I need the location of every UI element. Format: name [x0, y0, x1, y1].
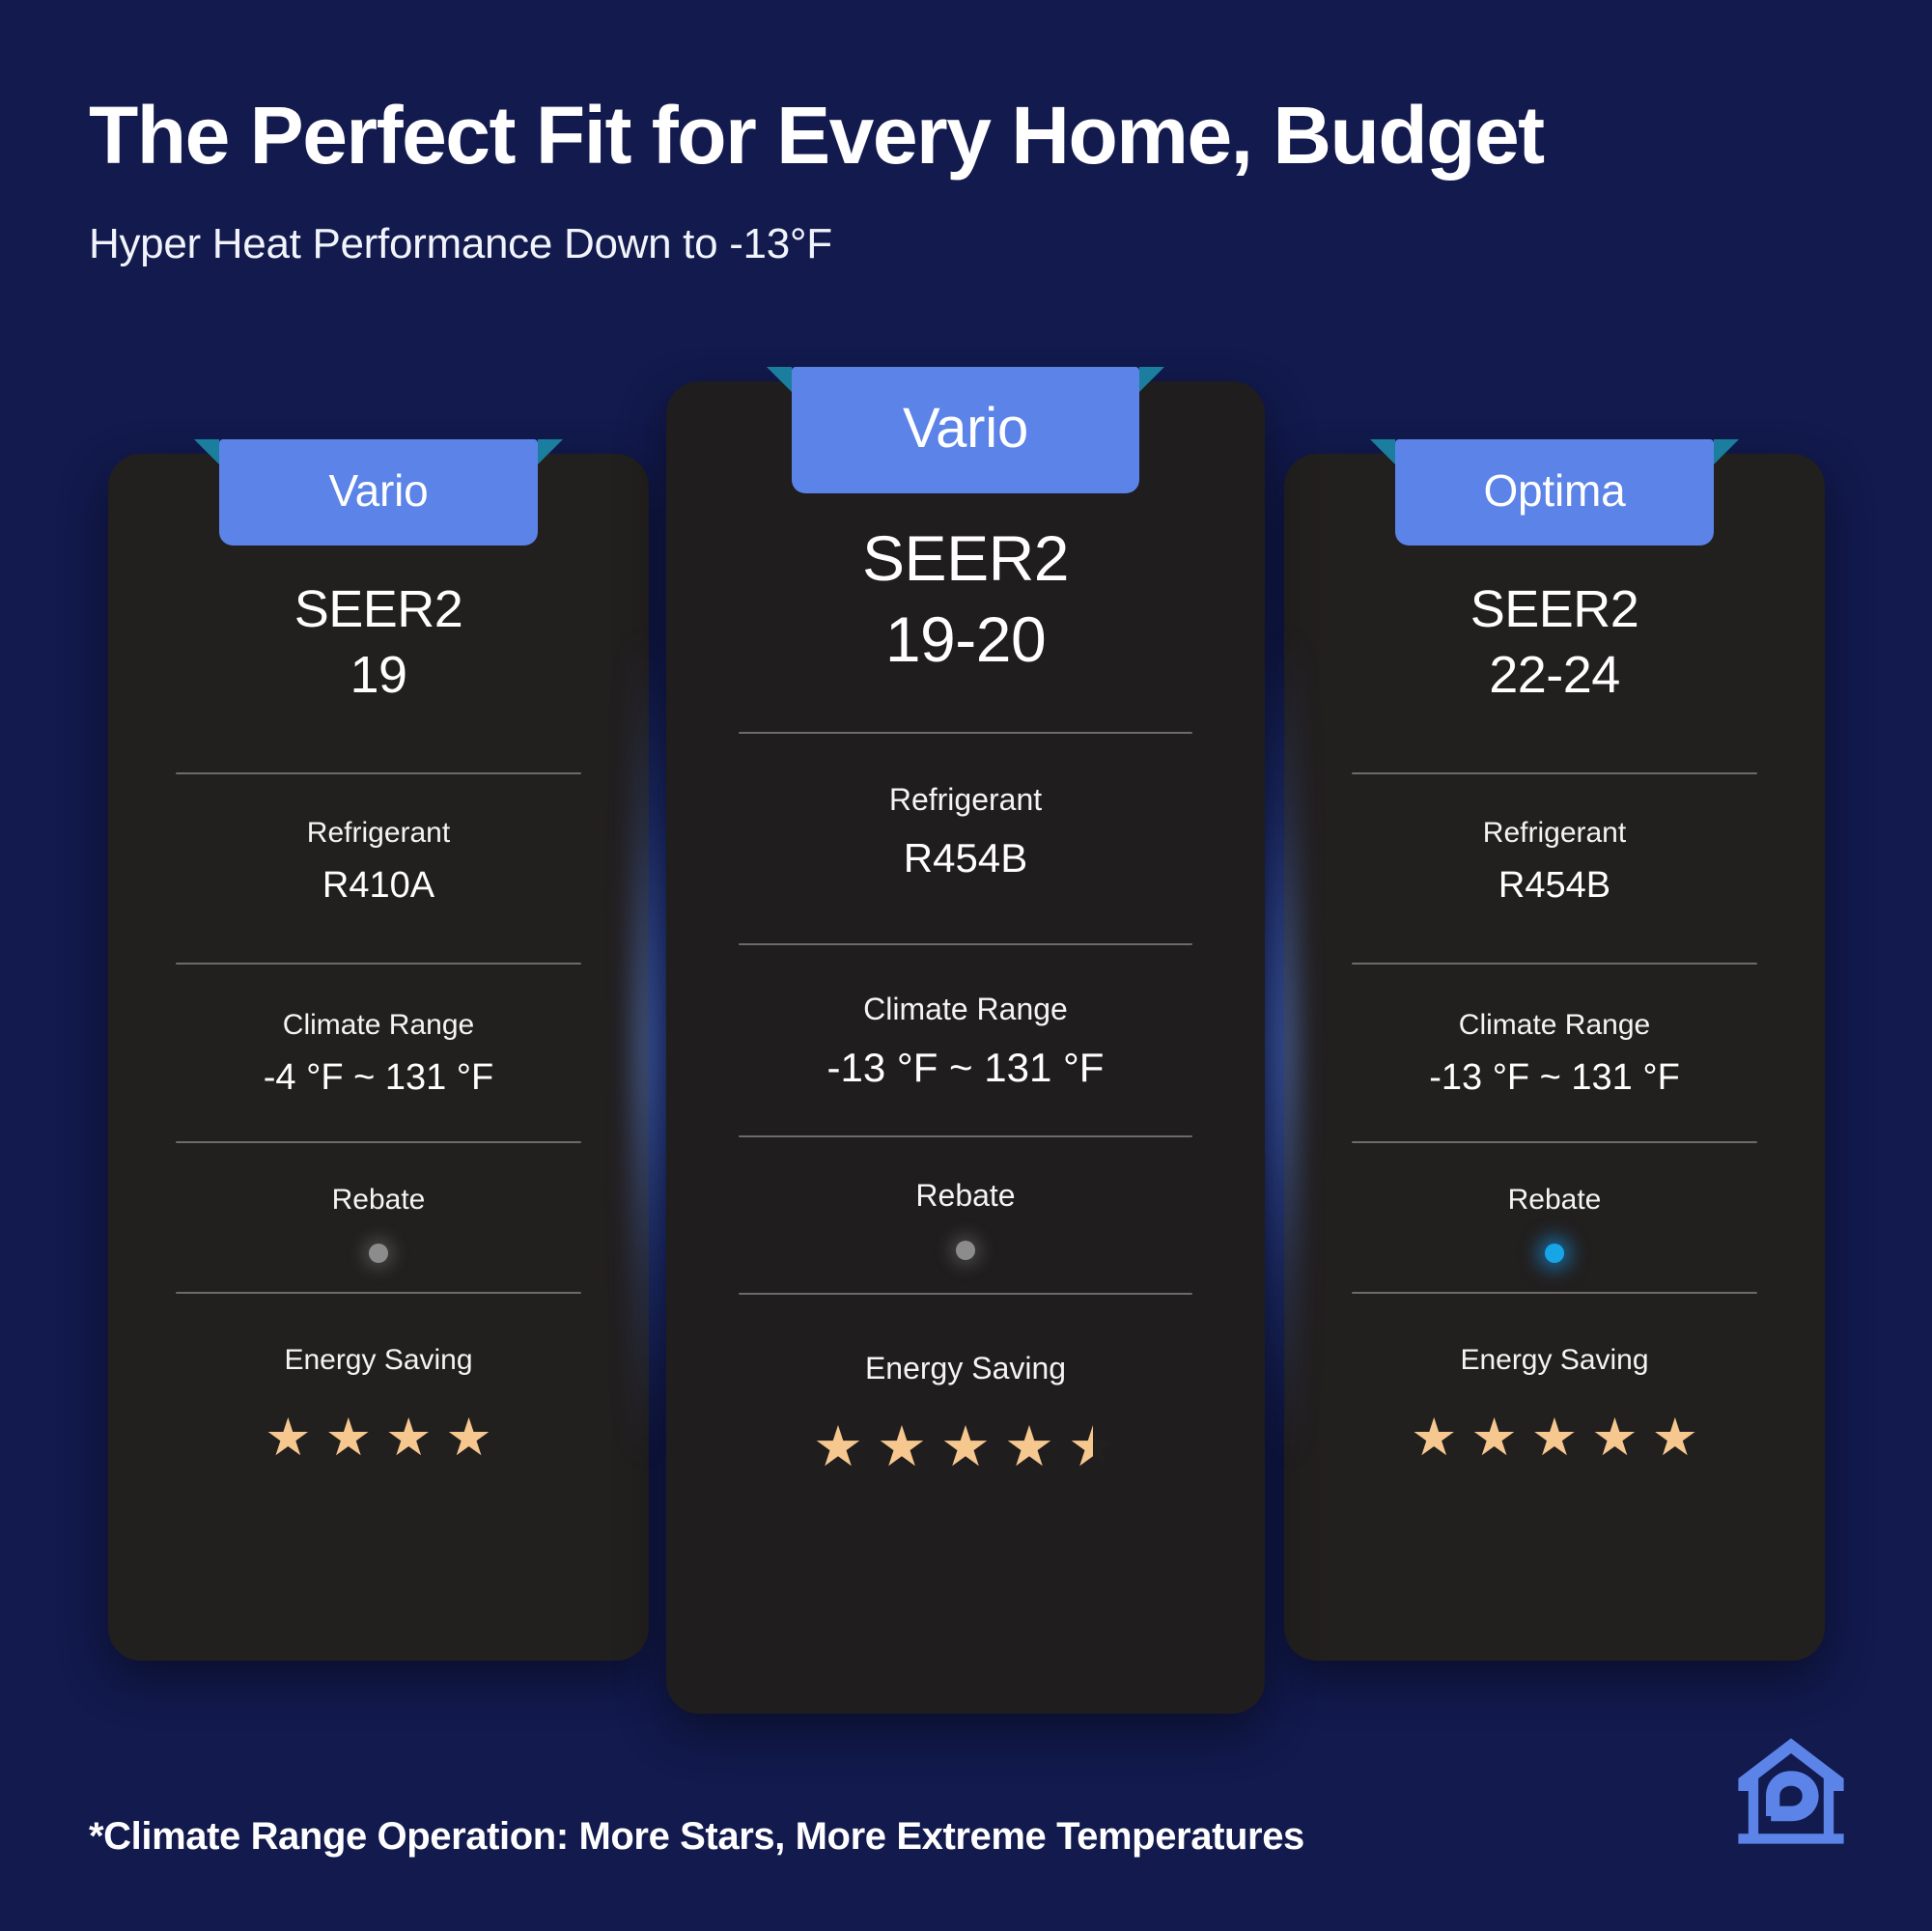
- star-icon: ★: [1470, 1412, 1517, 1464]
- product-card-vario-19[interactable]: SEER2 19 Refrigerant R410A Climate Range…: [108, 454, 649, 1661]
- climate-range-label: Climate Range: [283, 1009, 474, 1042]
- star-icon: ★: [1652, 1412, 1698, 1464]
- star-icon: ★: [813, 1419, 863, 1475]
- divider: [1352, 963, 1757, 965]
- seer2-value: 19-20: [885, 602, 1046, 676]
- divider: [176, 772, 581, 774]
- star-icon: ★: [445, 1412, 491, 1464]
- seer2-label: SEER2: [1470, 579, 1639, 639]
- ribbon-slot-2: Vario: [666, 367, 1265, 493]
- star-icon: ★: [940, 1419, 991, 1475]
- star-icon: ★: [265, 1412, 311, 1464]
- refrigerant-value: R410A: [322, 865, 434, 907]
- star-icon: ★: [1411, 1412, 1457, 1464]
- refrigerant-label: Refrigerant: [307, 817, 450, 850]
- star-icon: ★: [1004, 1419, 1054, 1475]
- climate-range-value: -13 °F ~ 131 °F: [1429, 1057, 1680, 1099]
- divider: [739, 1293, 1192, 1295]
- divider: [739, 943, 1192, 945]
- climate-range-value: -4 °F ~ 131 °F: [264, 1057, 493, 1099]
- star-icon: ★: [385, 1412, 432, 1464]
- seer2-label: SEER2: [294, 579, 463, 639]
- product-ribbon-vario-featured[interactable]: Vario: [792, 367, 1139, 493]
- divider: [739, 1135, 1192, 1137]
- footnote: *Climate Range Operation: More Stars, Mo…: [89, 1815, 1304, 1859]
- divider: [1352, 772, 1757, 774]
- energy-saving-stars: ★ ★ ★ ★ ★: [1411, 1412, 1698, 1464]
- seer2-value: 19: [350, 645, 406, 705]
- energy-saving-label: Energy Saving: [1460, 1344, 1648, 1377]
- energy-saving-label: Energy Saving: [284, 1344, 472, 1377]
- star-icon: ★: [877, 1419, 927, 1475]
- star-icon: ★: [1531, 1412, 1578, 1464]
- climate-range-label: Climate Range: [863, 992, 1068, 1027]
- product-ribbon-vario[interactable]: Vario: [219, 439, 538, 546]
- divider: [1352, 1141, 1757, 1143]
- rebate-label: Rebate: [915, 1178, 1015, 1214]
- divider: [176, 963, 581, 965]
- divider: [1352, 1292, 1757, 1294]
- divider: [739, 732, 1192, 734]
- refrigerant-label: Refrigerant: [889, 782, 1042, 818]
- star-icon: ★: [325, 1412, 372, 1464]
- rebate-label: Rebate: [332, 1184, 426, 1217]
- climate-range-value: -13 °F ~ 131 °F: [827, 1045, 1105, 1091]
- rebate-label: Rebate: [1508, 1184, 1602, 1217]
- seer2-value: 22-24: [1489, 645, 1620, 705]
- divider: [176, 1141, 581, 1143]
- refrigerant-label: Refrigerant: [1483, 817, 1626, 850]
- product-card-vario-19-20[interactable]: SEER2 19-20 Refrigerant R454B Climate Ra…: [666, 381, 1265, 1714]
- energy-saving-label: Energy Saving: [865, 1351, 1066, 1386]
- product-ribbon-optima[interactable]: Optima: [1395, 439, 1714, 546]
- star-icon: ★: [1591, 1412, 1638, 1464]
- ribbon-slot-1: Vario: [108, 439, 649, 546]
- product-card-optima-22-24[interactable]: SEER2 22-24 Refrigerant R454B Climate Ra…: [1284, 454, 1825, 1661]
- climate-range-label: Climate Range: [1459, 1009, 1650, 1042]
- energy-saving-stars: ★ ★ ★ ★ ★★: [813, 1419, 1118, 1475]
- rebate-indicator-dot: [1545, 1244, 1564, 1263]
- product-card-row: SEER2 19 Refrigerant R410A Climate Range…: [0, 0, 1932, 1931]
- energy-saving-stars: ★ ★ ★ ★: [265, 1412, 492, 1464]
- ribbon-slot-3: Optima: [1284, 439, 1825, 546]
- seer2-label: SEER2: [862, 521, 1069, 595]
- refrigerant-value: R454B: [1498, 865, 1610, 907]
- house-d-logo-icon: [1728, 1728, 1854, 1854]
- rebate-indicator-dot: [369, 1244, 388, 1263]
- half-star-icon: ★★: [1068, 1419, 1118, 1475]
- refrigerant-value: R454B: [904, 835, 1027, 882]
- divider: [176, 1292, 581, 1294]
- rebate-indicator-dot: [956, 1241, 975, 1260]
